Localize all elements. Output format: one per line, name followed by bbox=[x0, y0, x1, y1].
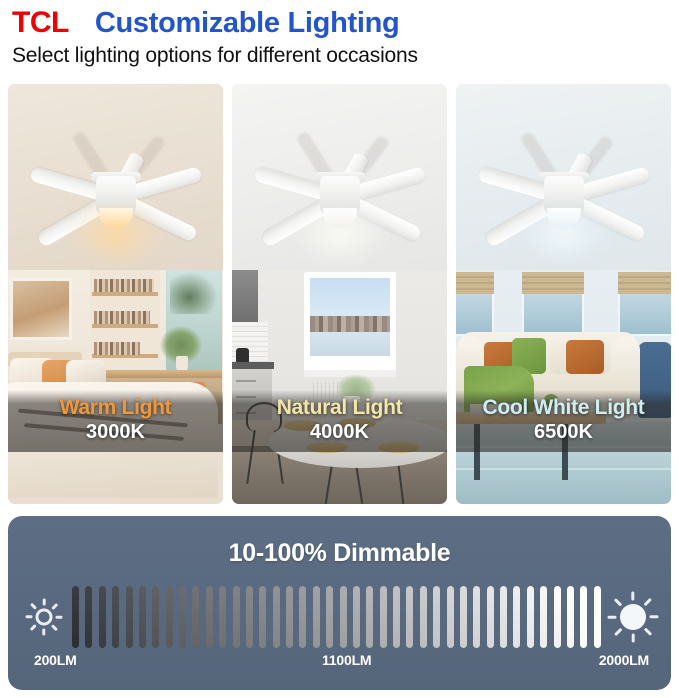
sun-ray bbox=[43, 629, 46, 636]
brightness-bar bbox=[326, 586, 333, 648]
brightness-bar bbox=[460, 586, 467, 648]
brightness-bar bbox=[567, 586, 574, 648]
brightness-bar bbox=[246, 586, 253, 648]
sun-ray bbox=[26, 616, 33, 619]
brightness-bar bbox=[554, 586, 561, 648]
lighting-panel-warm: Warm Light 3000K bbox=[8, 84, 223, 504]
sun-ray bbox=[51, 624, 58, 631]
sun-ray bbox=[643, 627, 652, 636]
sun-ray bbox=[643, 598, 652, 607]
sun-ray bbox=[631, 634, 634, 643]
brightness-bar bbox=[139, 586, 146, 648]
brightness-bar bbox=[72, 586, 79, 648]
brightness-bar bbox=[299, 586, 306, 648]
brightness-bar bbox=[594, 586, 601, 648]
caption-kelvin: 3000K bbox=[8, 421, 223, 444]
title-row: TCL Customizable Lighting bbox=[12, 6, 679, 40]
cityscape bbox=[310, 316, 390, 332]
caption-natural: Natural Light 4000K bbox=[232, 390, 447, 452]
brightness-bar bbox=[366, 586, 373, 648]
brightness-bar bbox=[433, 586, 440, 648]
page-header: TCL Customizable Lighting Select lightin… bbox=[0, 0, 679, 68]
brightness-bar bbox=[206, 586, 213, 648]
brightness-bar bbox=[85, 586, 92, 648]
brightness-bar bbox=[406, 586, 413, 648]
cabinet-handle bbox=[236, 380, 256, 382]
lumen-labels: 200LM 1100LM 2000LM bbox=[34, 652, 649, 668]
sun-ray bbox=[608, 615, 617, 618]
tcl-brand-logo: TCL bbox=[12, 6, 69, 40]
brightness-bar bbox=[259, 586, 266, 648]
brightness-bar bbox=[393, 586, 400, 648]
lighting-panel-row: Warm Light 3000K bbox=[8, 84, 671, 504]
brightness-bar bbox=[473, 586, 480, 648]
sun-disc bbox=[620, 604, 646, 630]
palm-foliage bbox=[170, 272, 218, 314]
brightness-bar bbox=[313, 586, 320, 648]
upper-cabinet bbox=[232, 270, 258, 322]
brightness-bar bbox=[540, 586, 547, 648]
books bbox=[94, 311, 150, 324]
window-shade bbox=[522, 272, 584, 294]
ceiling-fan-icon bbox=[469, 146, 659, 242]
sun-ray bbox=[56, 616, 63, 619]
room-scene-bedroom bbox=[8, 270, 223, 504]
caption-kelvin: 4000K bbox=[232, 421, 447, 444]
brightness-bar bbox=[166, 586, 173, 648]
room-scene-kitchen bbox=[232, 270, 447, 504]
brightness-bar bbox=[152, 586, 159, 648]
lumen-high: 2000LM bbox=[599, 652, 649, 668]
brightness-bar bbox=[447, 586, 454, 648]
brightness-bar bbox=[527, 586, 534, 648]
lumen-low: 200LM bbox=[34, 652, 77, 668]
sun-ray bbox=[43, 599, 46, 606]
shelf bbox=[92, 292, 158, 296]
brightness-bar bbox=[233, 586, 240, 648]
dimmer-scale-row bbox=[8, 582, 671, 652]
room-scene-living bbox=[456, 270, 671, 504]
sun-ray bbox=[650, 615, 659, 618]
sun-ray bbox=[30, 624, 37, 631]
brightness-bar bbox=[219, 586, 226, 648]
page-subtitle: Select lighting options for different oc… bbox=[12, 44, 679, 68]
wall-art bbox=[10, 278, 72, 340]
lighting-panel-cool-white: Cool White Light 6500K bbox=[456, 84, 671, 504]
caption-kelvin: 6500K bbox=[456, 421, 671, 444]
caption-name: Cool White Light bbox=[456, 396, 671, 420]
shelf bbox=[92, 324, 158, 328]
brightness-bar bbox=[380, 586, 387, 648]
brightness-bar bbox=[513, 586, 520, 648]
caption-warm: Warm Light 3000K bbox=[8, 390, 223, 452]
desk-top bbox=[88, 370, 222, 378]
dimmable-title: 10-100% Dimmable bbox=[8, 516, 671, 568]
sun-ray bbox=[614, 598, 623, 607]
brightness-bar bbox=[126, 586, 133, 648]
throw-pillow bbox=[566, 340, 604, 374]
brightness-bar bbox=[340, 586, 347, 648]
window-shade bbox=[456, 272, 494, 294]
brightness-bar bbox=[99, 586, 106, 648]
caption-name: Natural Light bbox=[232, 396, 447, 420]
caption-cool-white: Cool White Light 6500K bbox=[456, 390, 671, 452]
brightness-bar bbox=[112, 586, 119, 648]
brightness-bar bbox=[273, 586, 280, 648]
books bbox=[94, 279, 154, 292]
page-title: Customizable Lighting bbox=[95, 7, 400, 40]
sun-ray bbox=[30, 603, 37, 610]
ceiling-fan-icon bbox=[245, 146, 435, 242]
ceiling-fan-icon bbox=[21, 146, 211, 242]
brightness-bar bbox=[179, 586, 186, 648]
brightness-bar bbox=[487, 586, 494, 648]
countertop bbox=[232, 362, 274, 369]
brightness-bar bbox=[286, 586, 293, 648]
sun-bright-icon bbox=[601, 585, 665, 649]
brightness-gradient-bars bbox=[72, 586, 601, 648]
dimmable-panel: 10-100% Dimmable 200LM 1100LM 2000LM bbox=[8, 516, 671, 690]
brightness-bar bbox=[353, 586, 360, 648]
brightness-bar bbox=[500, 586, 507, 648]
caption-name: Warm Light bbox=[8, 396, 223, 420]
brightness-bar bbox=[580, 586, 587, 648]
brightness-bar bbox=[192, 586, 199, 648]
sun-ray bbox=[51, 603, 58, 610]
lighting-panel-natural: Natural Light 4000K bbox=[232, 84, 447, 504]
sun-ray bbox=[614, 627, 623, 636]
sun-dim-icon bbox=[16, 589, 72, 645]
lumen-mid: 1100LM bbox=[322, 652, 371, 668]
brightness-bar bbox=[420, 586, 427, 648]
sun-ray bbox=[631, 592, 634, 601]
kettle bbox=[236, 348, 249, 363]
sun-disc bbox=[36, 609, 53, 626]
books bbox=[94, 342, 140, 355]
window-shade bbox=[618, 272, 671, 294]
